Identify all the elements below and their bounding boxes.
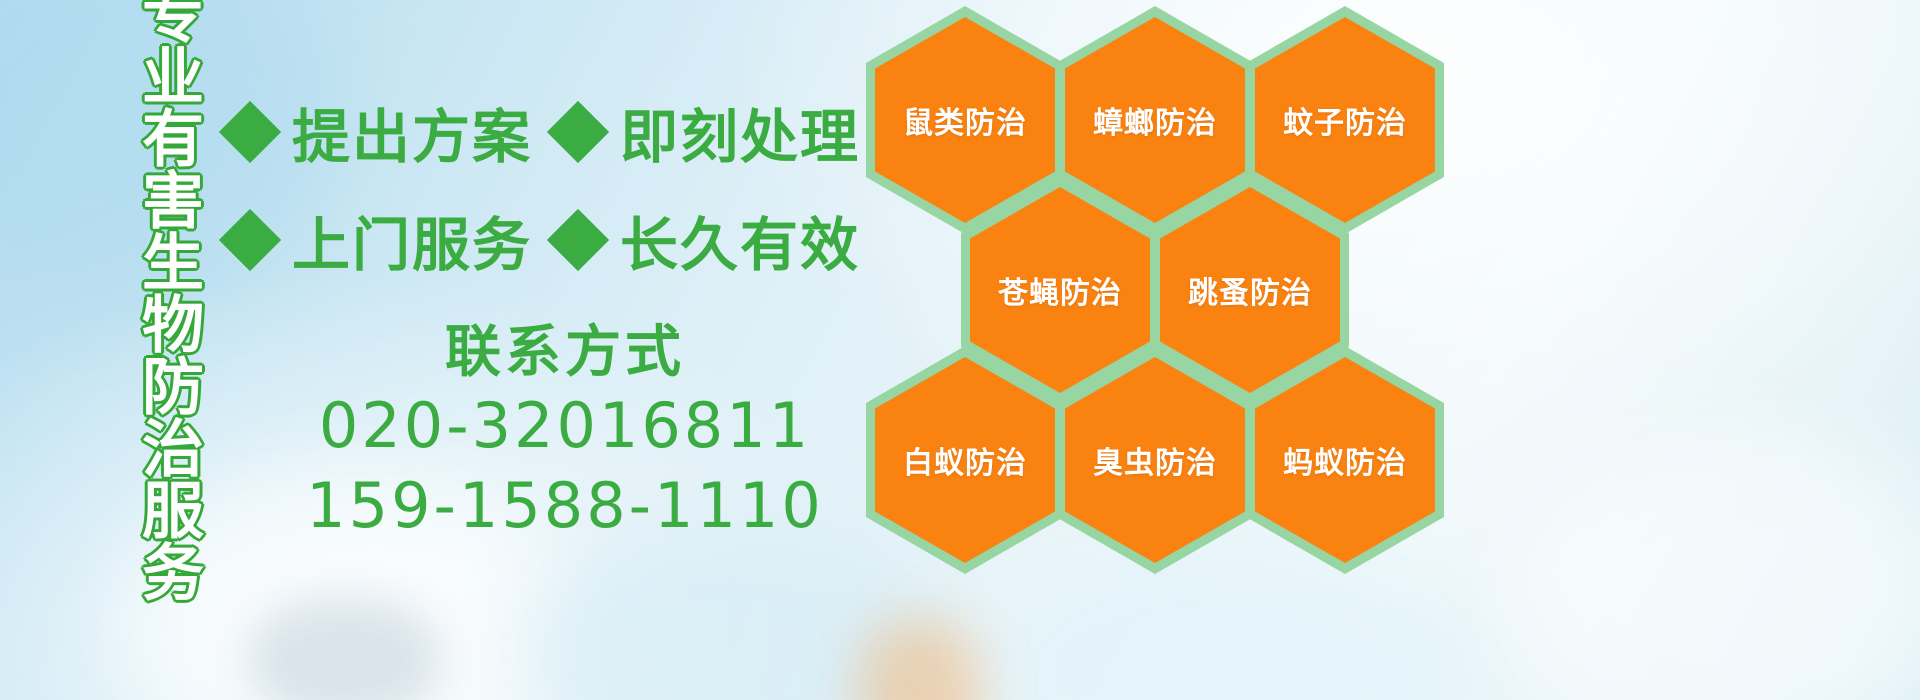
feature-row: 提出方案 即刻处理	[228, 78, 868, 186]
background-blob-grey	[250, 600, 440, 700]
feature-item: 上门服务	[228, 198, 532, 282]
feature-label: 即刻处理	[620, 90, 860, 174]
feature-list: 提出方案 即刻处理 上门服务 长久有效	[228, 78, 868, 294]
contact-block: 联系方式 020-32016811 159-1588-1110	[300, 318, 830, 545]
service-honeycomb: 鼠类防治 蟑螂防治 蚊子防治 苍蝇防治 跳蚤防治 白蚁防治	[860, 0, 1500, 580]
background-blob-orange	[860, 620, 980, 700]
diamond-icon	[219, 101, 281, 163]
feature-row: 上门服务 长久有效	[228, 186, 868, 294]
hex-label: 蚂蚁防治	[1283, 438, 1407, 482]
hex-label: 白蚁防治	[903, 438, 1027, 482]
hex-label: 臭虫防治	[1093, 438, 1217, 482]
background-blob	[1500, 430, 1920, 700]
contact-phone-mobile[interactable]: 159-1588-1110	[300, 466, 830, 545]
hex-label: 蟑螂防治	[1093, 98, 1217, 142]
service-hex-ant[interactable]: 蚂蚁防治	[1246, 346, 1444, 574]
feature-item: 即刻处理	[556, 90, 860, 174]
diamond-icon	[219, 209, 281, 271]
feature-label: 长久有效	[620, 198, 860, 282]
feature-label: 提出方案	[292, 90, 532, 174]
pest-control-banner: 专业有害生物防治服务 提出方案 即刻处理 上门服务 长久有效 联	[0, 0, 1920, 700]
hex-label: 苍蝇防治	[998, 268, 1122, 312]
feature-item: 提出方案	[228, 90, 532, 174]
contact-title: 联系方式	[300, 318, 830, 386]
hex-label: 蚊子防治	[1283, 98, 1407, 142]
diamond-icon	[547, 209, 609, 271]
vertical-slogan: 专业有害生物防治服务	[104, 12, 196, 572]
feature-label: 上门服务	[292, 198, 532, 282]
hex-label: 跳蚤防治	[1188, 268, 1312, 312]
service-hex-termite[interactable]: 白蚁防治	[866, 346, 1064, 574]
hex-label: 鼠类防治	[903, 98, 1027, 142]
service-hex-bedbug[interactable]: 臭虫防治	[1056, 346, 1254, 574]
feature-item: 长久有效	[556, 198, 860, 282]
contact-phone-landline[interactable]: 020-32016811	[300, 386, 830, 465]
diamond-icon	[547, 101, 609, 163]
